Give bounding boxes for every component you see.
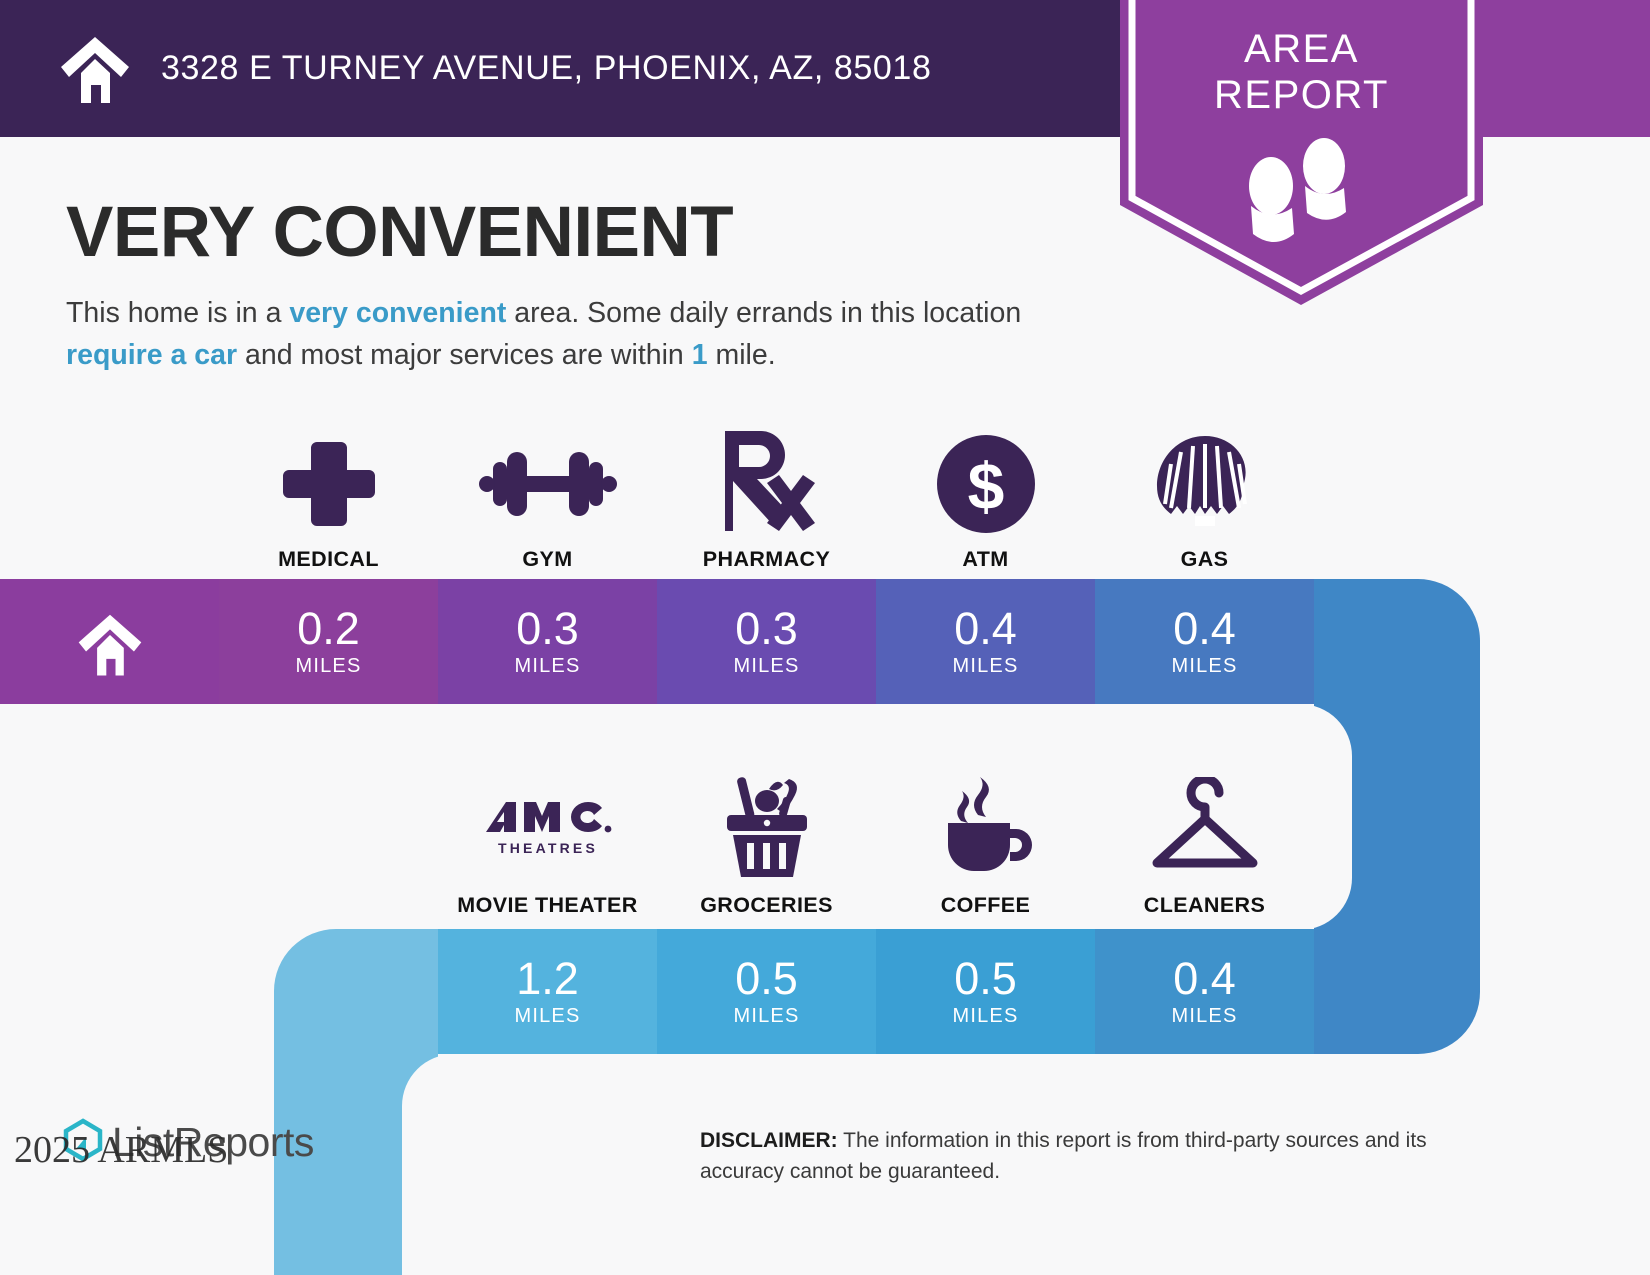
distance-unit: MILES bbox=[733, 655, 799, 678]
distance-cell-groceries: 0.5 MILES bbox=[657, 929, 876, 1054]
category-pharmacy: PHARMACY bbox=[657, 432, 876, 572]
category-label: PHARMACY bbox=[703, 547, 830, 572]
badge-line-1: AREA bbox=[1120, 26, 1483, 72]
category-label: GYM bbox=[522, 547, 572, 572]
distance-unit: MILES bbox=[514, 1005, 580, 1028]
distance-unit: MILES bbox=[295, 655, 361, 678]
shell-icon bbox=[1155, 432, 1255, 535]
category-label: MEDICAL bbox=[278, 547, 379, 572]
badge-label: AREA REPORT bbox=[1120, 26, 1483, 118]
medical-cross-icon bbox=[281, 432, 377, 535]
distance-value: 0.4 bbox=[1173, 605, 1236, 653]
distance-unit: MILES bbox=[514, 655, 580, 678]
distance-cell-cleaners: 0.4 MILES bbox=[1095, 929, 1314, 1054]
distance-value: 1.2 bbox=[516, 955, 579, 1003]
distance-cell-atm: 0.4 MILES bbox=[876, 579, 1095, 704]
category-label: CLEANERS bbox=[1144, 893, 1265, 918]
distance-value: 0.3 bbox=[516, 605, 579, 653]
distance-unit: MILES bbox=[952, 655, 1018, 678]
coffee-cup-icon bbox=[934, 773, 1038, 881]
category-cleaners: CLEANERS bbox=[1095, 768, 1314, 918]
distance-cell-medical: 0.2 MILES bbox=[219, 579, 438, 704]
armls-watermark: 2025 ARMLS bbox=[14, 1128, 228, 1172]
category-groceries: GROCERIES bbox=[657, 768, 876, 918]
distance-value: 0.2 bbox=[297, 605, 360, 653]
distance-value: 0.4 bbox=[1173, 955, 1236, 1003]
distance-cell-gas: 0.4 MILES bbox=[1095, 579, 1314, 704]
distance-unit: MILES bbox=[952, 1005, 1018, 1028]
rx-icon bbox=[719, 427, 815, 535]
svg-text:$: $ bbox=[967, 449, 1004, 523]
category-coffee: COFFEE bbox=[876, 768, 1095, 918]
category-medical: MEDICAL bbox=[219, 432, 438, 572]
distance-value: 0.5 bbox=[735, 955, 798, 1003]
badge-line-2: REPORT bbox=[1120, 72, 1483, 118]
clothes-hanger-icon bbox=[1139, 773, 1271, 881]
category-label: MOVIE THEATER bbox=[457, 893, 637, 918]
dumbbell-icon bbox=[475, 432, 621, 535]
distance-unit: MILES bbox=[1171, 655, 1237, 678]
distance-cell-gym: 0.3 MILES bbox=[438, 579, 657, 704]
svg-text:THEATRES: THEATRES bbox=[497, 840, 597, 856]
distance-cell-coffee: 0.5 MILES bbox=[876, 929, 1095, 1054]
category-gas: GAS bbox=[1095, 432, 1314, 572]
distance-unit: MILES bbox=[1171, 1005, 1237, 1028]
category-atm: $ ATM bbox=[876, 432, 1095, 572]
distance-value: 0.4 bbox=[954, 605, 1017, 653]
row1-home-cell bbox=[0, 579, 219, 704]
home-icon bbox=[75, 611, 145, 673]
category-label: GROCERIES bbox=[700, 893, 833, 918]
category-movie-theater: THEATRES MOVIE THEATER bbox=[438, 768, 657, 918]
distance-value: 0.3 bbox=[735, 605, 798, 653]
dollar-circle-icon: $ bbox=[935, 432, 1037, 535]
distance-cell-pharmacy: 0.3 MILES bbox=[657, 579, 876, 704]
distance-unit: MILES bbox=[733, 1005, 799, 1028]
category-gym: GYM bbox=[438, 432, 657, 572]
area-report-badge: AREA REPORT bbox=[1120, 0, 1483, 305]
category-label: GAS bbox=[1181, 547, 1229, 572]
category-label: ATM bbox=[962, 547, 1008, 572]
disclaimer-label: DISCLAIMER: bbox=[700, 1129, 838, 1152]
category-label: COFFEE bbox=[941, 893, 1031, 918]
amc-theatres-logo: THEATRES bbox=[484, 773, 612, 881]
disclaimer: DISCLAIMER: The information in this repo… bbox=[700, 1125, 1510, 1187]
distance-value: 0.5 bbox=[954, 955, 1017, 1003]
distance-cell-movie-theater: 1.2 MILES bbox=[438, 929, 657, 1054]
grocery-basket-icon bbox=[715, 773, 819, 881]
